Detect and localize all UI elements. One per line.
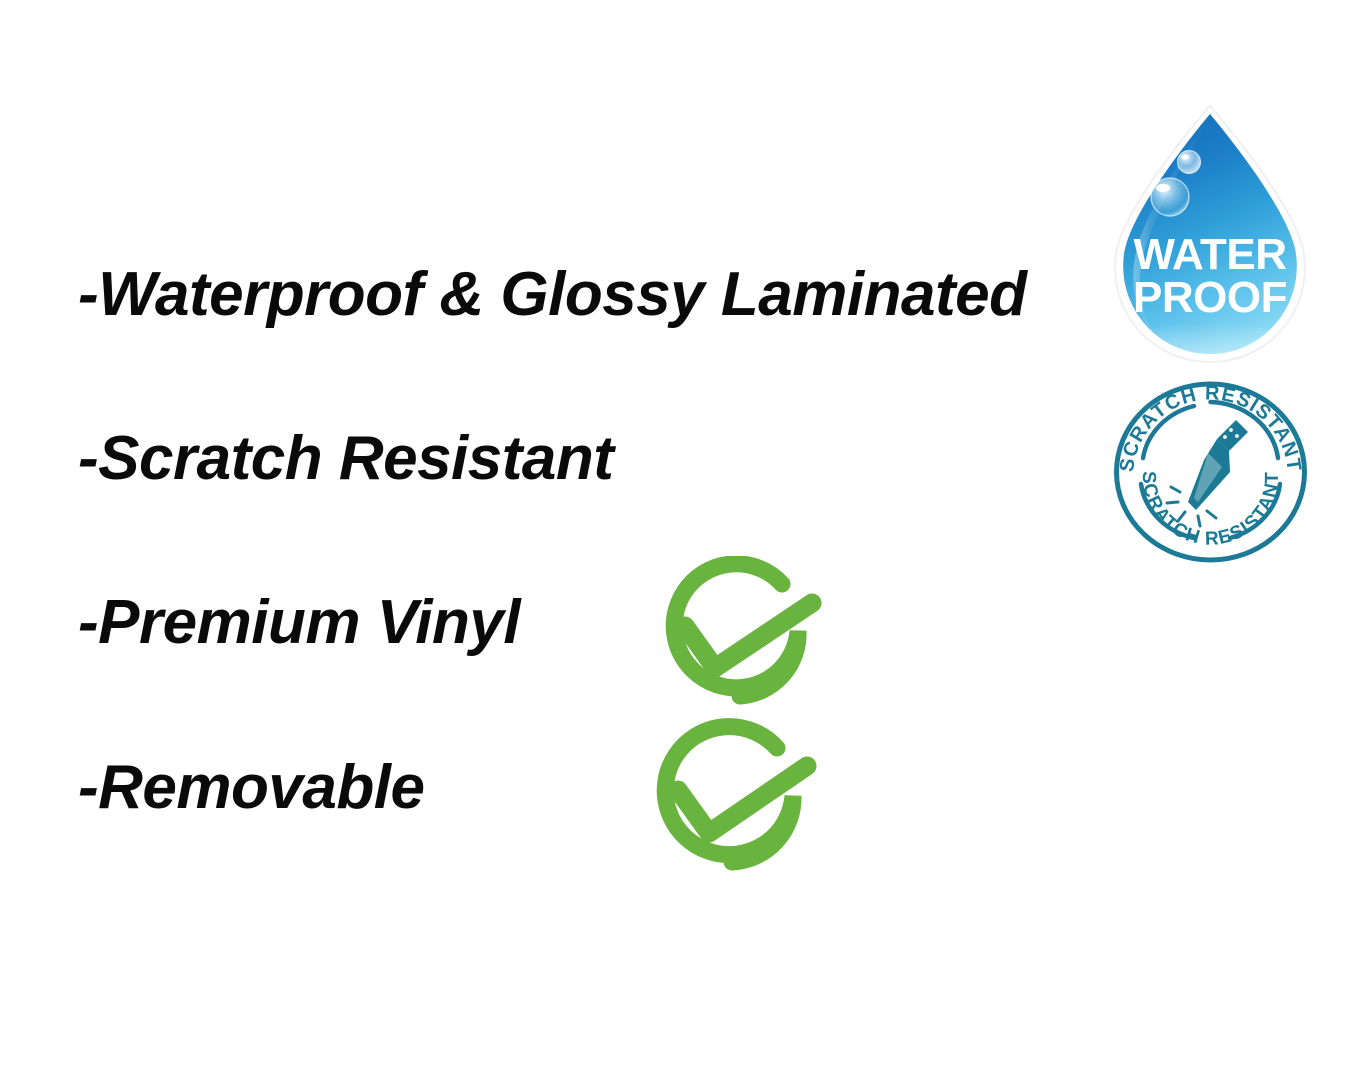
waterproof-badge: WATER PROOF xyxy=(1104,104,1316,366)
check-circle-removable xyxy=(632,716,832,881)
knife-rivet-3 xyxy=(1223,435,1227,439)
knife-rivet-2 xyxy=(1235,434,1239,438)
feature-item-removable: -Removable xyxy=(78,757,424,819)
knife-rivet-1 xyxy=(1229,428,1233,432)
feature-item-scratch-resistant: -Scratch Resistant xyxy=(78,428,613,490)
waterproof-line2: PROOF xyxy=(1133,273,1287,322)
product-feature-graphic: -Waterproof & Glossy Laminated -Scratch … xyxy=(0,0,1359,1080)
feature-item-waterproof-glossy-laminated: -Waterproof & Glossy Laminated xyxy=(78,264,1026,326)
feature-item-premium-vinyl: -Premium Vinyl xyxy=(78,592,520,654)
waterproof-line1: WATER xyxy=(1133,230,1286,279)
bubble-small-glint xyxy=(1181,154,1189,159)
check-circle-premium-vinyl xyxy=(640,556,840,714)
scratch-resistant-badge: SCRATCH RESISTANT SCRATCH RESISTANT xyxy=(1108,380,1313,565)
scratch-resistant-seal-icon: SCRATCH RESISTANT SCRATCH RESISTANT xyxy=(1108,380,1313,565)
bubble-large-glint xyxy=(1156,184,1170,192)
water-drop-icon: WATER PROOF xyxy=(1104,104,1316,366)
bubble-large-icon xyxy=(1151,178,1189,216)
check-circle-icon xyxy=(640,556,840,714)
check-circle-icon xyxy=(632,716,832,881)
feature-list: -Waterproof & Glossy Laminated -Scratch … xyxy=(0,0,1100,1080)
bubble-small-icon xyxy=(1178,151,1201,174)
knife-icon xyxy=(1167,420,1248,526)
